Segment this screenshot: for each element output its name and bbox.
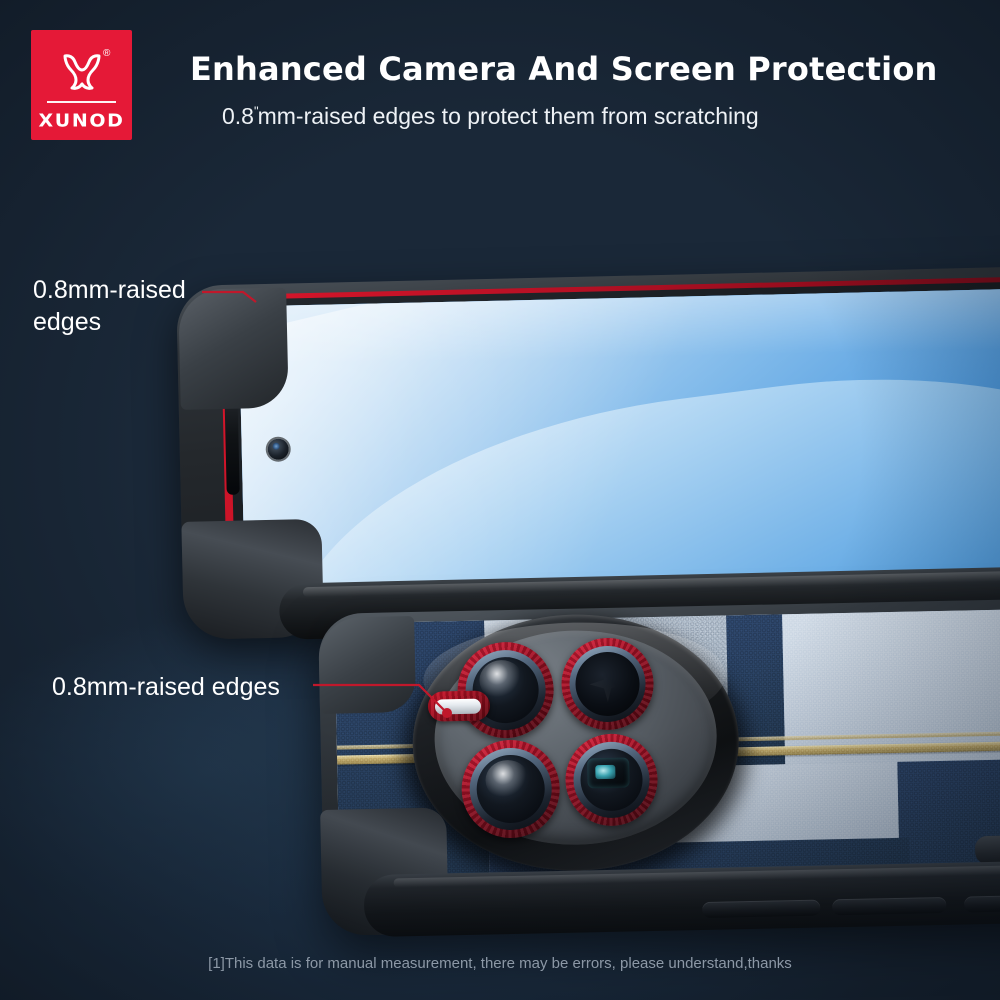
- page-subtitle: 0.8"mm-raised edges to protect them from…: [222, 103, 942, 130]
- product-marketing-image: 0.8mm-raised edges 0.8mm-raised edges ® …: [0, 0, 1000, 1000]
- footnote-disclaimer: [1]This data is for manual measurement, …: [0, 955, 1000, 972]
- subtitle-rest: mm-raised edges to protect them from scr…: [258, 103, 759, 129]
- annotation-raised-edges-screen: 0.8mm-raised edges: [33, 274, 186, 338]
- subtitle-value: 0.8: [222, 103, 254, 129]
- logo-divider-rule: [47, 101, 116, 103]
- registered-trademark-symbol: ®: [103, 49, 110, 59]
- background-vignette: [0, 0, 1000, 1000]
- brand-logo: ® XUNOD: [31, 30, 132, 140]
- page-title: Enhanced Camera And Screen Protection: [190, 50, 890, 88]
- annotation-raised-edges-camera: 0.8mm-raised edges: [52, 671, 280, 703]
- xundd-bowtie-logo-icon: [59, 52, 105, 92]
- brand-wordmark: XUNOD: [31, 111, 132, 131]
